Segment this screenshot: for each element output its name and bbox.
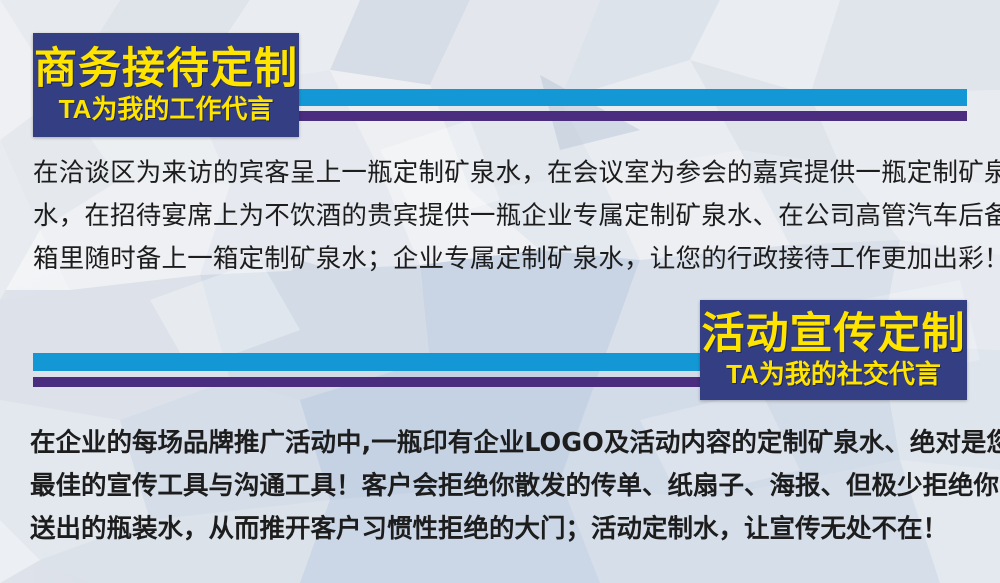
paragraph-business-reception: 在洽谈区为来访的宾客呈上一瓶定制矿泉水，在会议室为参会的嘉宾提供一瓶定制矿泉 水… [33, 152, 967, 281]
plaque-business-subline: TA为我的工作代言 [59, 95, 274, 124]
paragraph-line: 送出的瓶装水，从而推开客户习惯性拒绝的大门；活动定制水，让宣传无处不在！ [30, 508, 970, 551]
plaque-event-subline: TA为我的社交代言 [726, 360, 941, 389]
event-purple-rule [33, 377, 701, 387]
plaque-business-headline: 商务接待定制 [34, 47, 298, 92]
paragraph-event-promotion: 在企业的每场品牌推广活动中,一瓶印有企业LOGO及活动内容的定制矿泉水、绝对是您… [30, 422, 970, 551]
plaque-business-reception: 商务接待定制 TA为我的工作代言 [33, 33, 299, 137]
paragraph-line: 水，在招待宴席上为不饮酒的贵宾提供一瓶企业专属定制矿泉水、在公司高管汽车后备 [33, 195, 967, 238]
paragraph-line: 在企业的每场品牌推广活动中,一瓶印有企业LOGO及活动内容的定制矿泉水、绝对是您 [30, 422, 970, 465]
paragraph-line: 在洽谈区为来访的宾客呈上一瓶定制矿泉水，在会议室为参会的嘉宾提供一瓶定制矿泉 [33, 152, 967, 195]
promotional-poster: 商务接待定制 TA为我的工作代言 在洽谈区为来访的宾客呈上一瓶定制矿泉水，在会议… [0, 0, 1000, 583]
plaque-event-headline: 活动宣传定制 [702, 312, 966, 357]
paragraph-line: 最佳的宣传工具与沟通工具！客户会拒绝你散发的传单、纸扇子、海报、但极少拒绝你 [30, 465, 970, 508]
business-cyan-rule [298, 89, 967, 106]
plaque-event-promotion: 活动宣传定制 TA为我的社交代言 [700, 300, 967, 400]
event-cyan-rule [33, 353, 701, 371]
paragraph-line: 箱里随时备上一箱定制矿泉水；企业专属定制矿泉水，让您的行政接待工作更加出彩！ [33, 238, 967, 281]
business-purple-rule [298, 111, 967, 121]
